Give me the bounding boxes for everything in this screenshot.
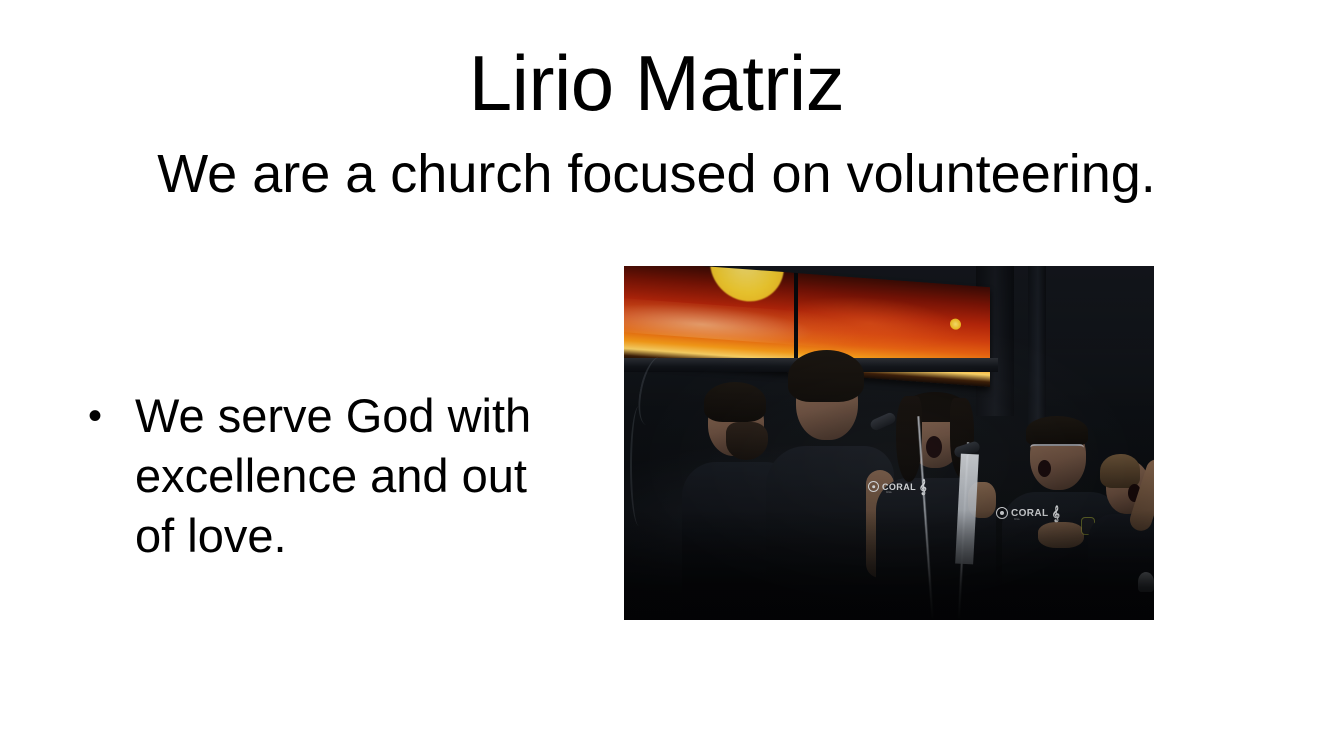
stage-floor <box>624 510 1154 620</box>
hair <box>788 350 864 402</box>
beard <box>726 422 768 460</box>
slide-subtitle: We are a church focused on volunteering. <box>0 146 1313 203</box>
hair <box>704 382 766 422</box>
hair <box>1026 416 1088 446</box>
list-item: • We serve God with excellence and out o… <box>88 386 558 566</box>
cable <box>630 406 648 526</box>
bullet-text: We serve God with excellence and out of … <box>135 386 558 566</box>
presentation-slide: Lirio Matriz We are a church focused on … <box>0 0 1323 744</box>
coral-shirt-logo: CORAL 𝄞 lirio <box>868 480 927 493</box>
coral-logo-subtext: lirio <box>886 490 892 494</box>
body-text-block: • We serve God with excellence and out o… <box>88 386 558 566</box>
page-title: Lirio Matriz <box>0 44 1313 122</box>
coral-circle-mark-icon <box>868 481 879 492</box>
bullet-marker-icon: • <box>88 386 135 446</box>
light-dot-icon <box>950 318 961 330</box>
hair <box>1100 454 1140 488</box>
choir-photo: CORAL 𝄞 lirio CORAL 𝄞 lirio <box>624 266 1154 620</box>
wall-pillar-secondary <box>1028 266 1046 434</box>
open-mouth <box>1038 460 1051 477</box>
glasses-icon <box>1030 444 1084 457</box>
open-mouth <box>926 436 942 458</box>
music-note-icon: 𝄞 <box>919 480 927 493</box>
